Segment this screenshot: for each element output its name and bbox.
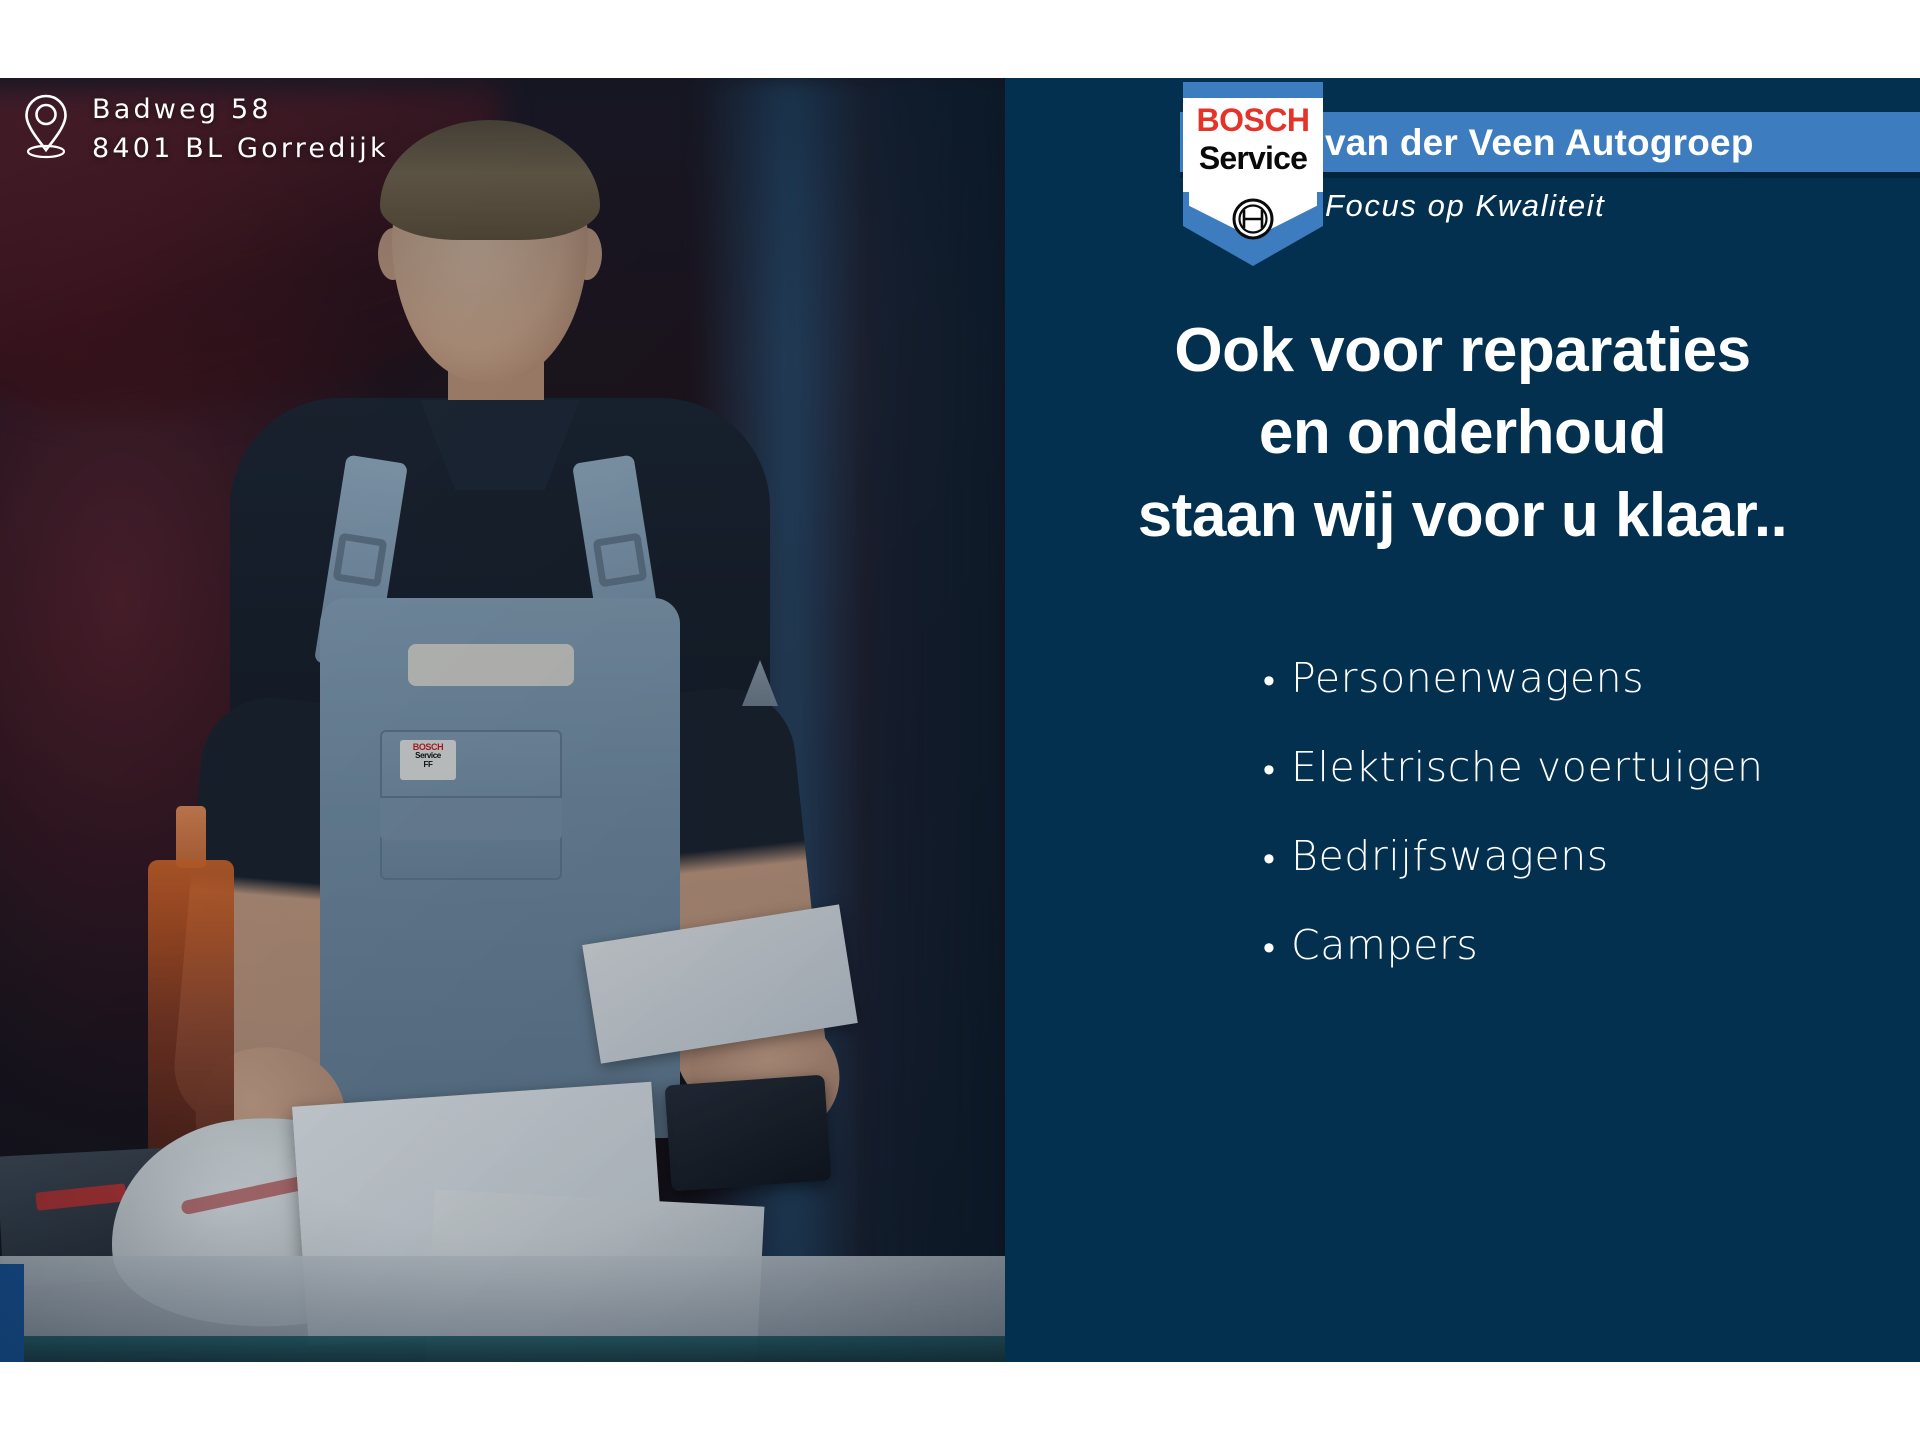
bosch-service-logo: BOSCH Service <box>1183 82 1323 278</box>
bosch-logo-wordmark-top: BOSCH <box>1183 102 1323 139</box>
overall-badge-line3: FF <box>400 761 456 769</box>
service-label: Bedrijfswagens <box>1291 836 1609 877</box>
bosch-armature-icon <box>1232 198 1274 240</box>
prop-worktop-edge <box>0 1336 1005 1362</box>
overall-bosch-badge: BOSCH Service FF <box>400 740 456 780</box>
services-list: • Personenwagens • Elektrische voertuige… <box>1005 658 1920 1014</box>
overall-buckle-left <box>333 533 388 588</box>
prop-calculator <box>664 1075 831 1192</box>
headline-line-3: staan wij voor u klaar.. <box>1005 475 1920 557</box>
list-item: • Bedrijfswagens <box>1005 836 1920 877</box>
service-label: Elektrische voertuigen <box>1291 747 1764 788</box>
prop-bottle-neck <box>176 806 206 868</box>
overall-nametag <box>408 644 574 686</box>
service-label: Personenwagens <box>1291 658 1644 699</box>
overall-pocket-flap <box>380 796 562 840</box>
list-item: • Elektrische voertuigen <box>1005 747 1920 788</box>
address-line-1: Badweg 58 <box>92 90 389 129</box>
list-item: • Personenwagens <box>1005 658 1920 699</box>
company-name: van der Veen Autogroep <box>1325 122 1754 164</box>
prop-bottle <box>148 860 234 1160</box>
address-text: Badweg 58 8401 BL Gorredijk <box>92 90 389 169</box>
brand-header: BOSCH Service van der Veen Autogroep Foc… <box>1005 78 1920 208</box>
bosch-logo-top-strip <box>1183 82 1323 98</box>
bullet-icon: • <box>1263 842 1291 876</box>
headline-line-2: en onderhoud <box>1005 392 1920 474</box>
address-overlay: Badweg 58 8401 BL Gorredijk <box>22 90 389 169</box>
company-tagline: Focus op Kwaliteit <box>1325 188 1605 224</box>
mechanic-hair <box>380 120 600 240</box>
service-label: Campers <box>1291 925 1478 966</box>
workshop-photo: BOSCH Service FF <box>0 78 1005 1362</box>
overall-buckle-right <box>593 533 648 588</box>
headline-line-1: Ook voor reparaties <box>1005 310 1920 392</box>
info-panel: BOSCH Service van der Veen Autogroep Foc… <box>1005 78 1920 1362</box>
bosch-logo-wordmark-bottom: Service <box>1183 140 1323 177</box>
advertisement-banner: BOSCH Service FF <box>0 78 1920 1362</box>
bullet-icon: • <box>1263 753 1291 787</box>
address-line-2: 8401 BL Gorredijk <box>92 129 389 168</box>
headline: Ook voor reparaties en onderhoud staan w… <box>1005 310 1920 557</box>
list-item: • Campers <box>1005 925 1920 966</box>
location-pin-icon <box>22 93 70 159</box>
bullet-icon: • <box>1263 931 1291 965</box>
bullet-icon: • <box>1263 664 1291 698</box>
prop-blue-edge <box>0 1264 24 1362</box>
